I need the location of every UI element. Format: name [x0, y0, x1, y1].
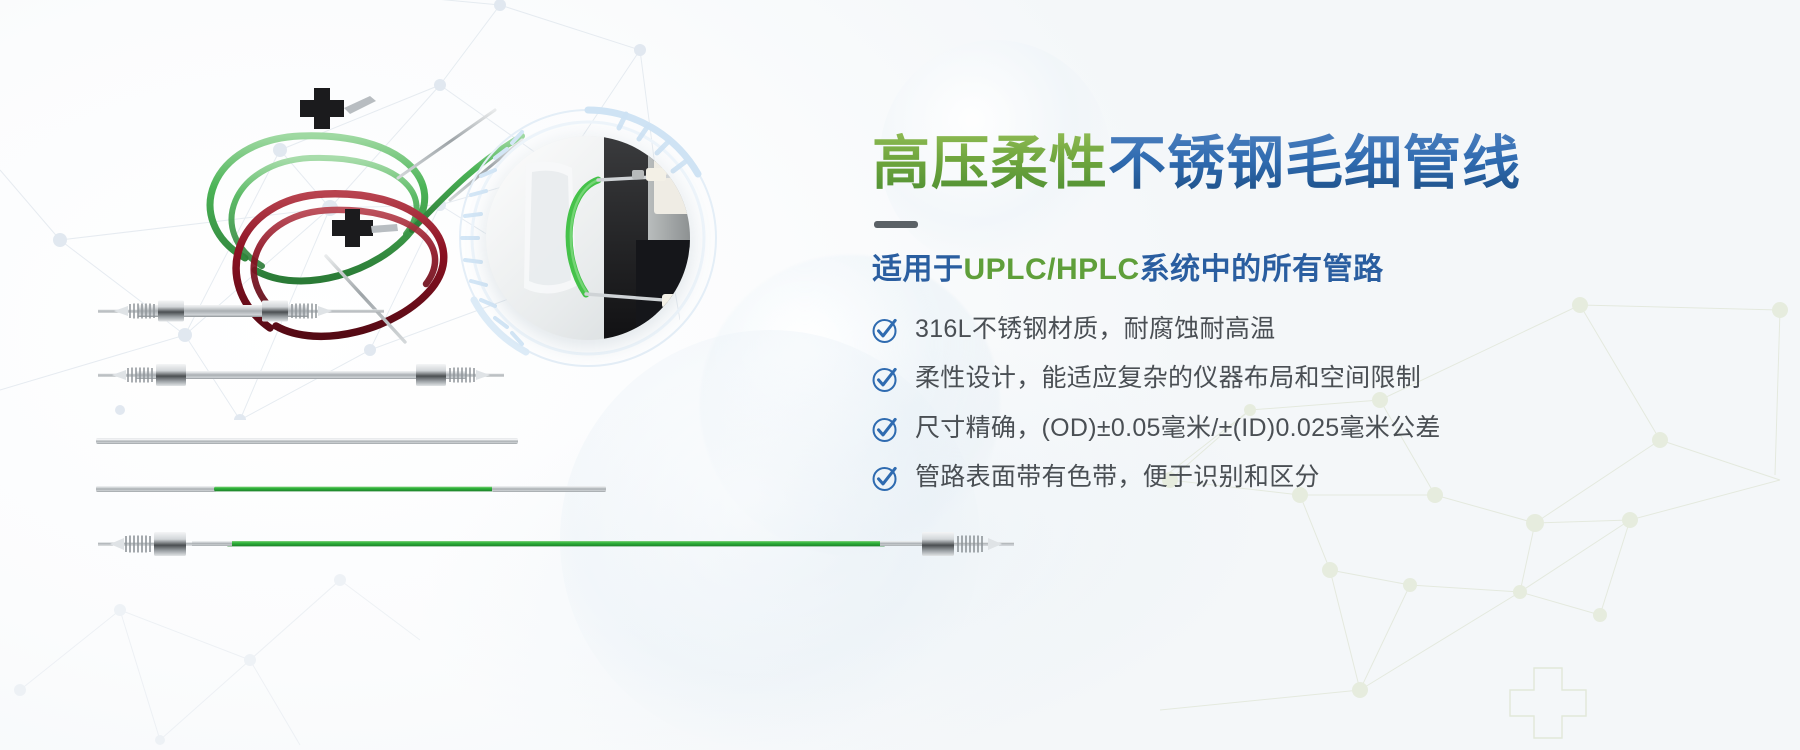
capillary-short-double-fitting — [96, 296, 386, 326]
cross-outline-icon — [1510, 668, 1586, 738]
check-circle-icon — [872, 366, 899, 393]
black-union-fitting-upper — [300, 88, 344, 129]
subtitle-highlight: UPLC/HPLC — [964, 253, 1140, 286]
product-image-stage — [0, 0, 860, 750]
feature-item: 尺寸精确，(OD)±0.05毫米/±(ID)0.025毫米公差 — [872, 413, 1702, 444]
feature-text: 管路表面带有色带，便于识别和区分 — [915, 462, 1320, 493]
feature-text: 尺寸精确，(OD)±0.05毫米/±(ID)0.025毫米公差 — [915, 413, 1441, 444]
feature-list: 316L不锈钢材质，耐腐蚀耐高温 柔性设计，能适应复杂的仪器布局和空间限制 — [872, 314, 1702, 493]
headline-green-segment: 高压柔性 — [872, 131, 1108, 196]
feature-item: 柔性设计，能适应复杂的仪器布局和空间限制 — [872, 363, 1702, 394]
page-subtitle: 适用于UPLC/HPLC系统中的所有管路 — [872, 244, 1702, 288]
inset-photo-image — [486, 136, 690, 340]
instrument-photo-inset — [438, 88, 738, 388]
feature-text: 316L不锈钢材质，耐腐蚀耐高温 — [915, 314, 1275, 345]
feature-item: 管路表面带有色带，便于识别和区分 — [872, 462, 1702, 493]
page-title: 高压柔性不锈钢毛细管线 — [872, 132, 1702, 197]
check-circle-icon — [872, 465, 899, 492]
check-circle-icon — [872, 416, 899, 443]
check-circle-icon — [872, 317, 899, 344]
title-divider — [874, 221, 918, 228]
subtitle-suffix: 系统中的所有管路 — [1140, 253, 1384, 286]
feature-text: 柔性设计，能适应复杂的仪器布局和空间限制 — [915, 363, 1421, 394]
subtitle-prefix: 适用于 — [872, 253, 964, 286]
capillary-long-green-with-fittings — [96, 528, 1016, 560]
banner-text-content: 高压柔性不锈钢毛细管线 适用于UPLC/HPLC系统中的所有管路 316L不锈钢… — [872, 132, 1702, 512]
feature-item: 316L不锈钢材质，耐腐蚀耐高温 — [872, 314, 1702, 345]
capillary-green-banded-tube — [96, 478, 606, 500]
product-banner: 高压柔性不锈钢毛细管线 适用于UPLC/HPLC系统中的所有管路 316L不锈钢… — [0, 0, 1800, 750]
capillary-bare-steel-tube — [96, 434, 518, 448]
headline-blue-segment: 不锈钢毛细管线 — [1108, 131, 1521, 196]
